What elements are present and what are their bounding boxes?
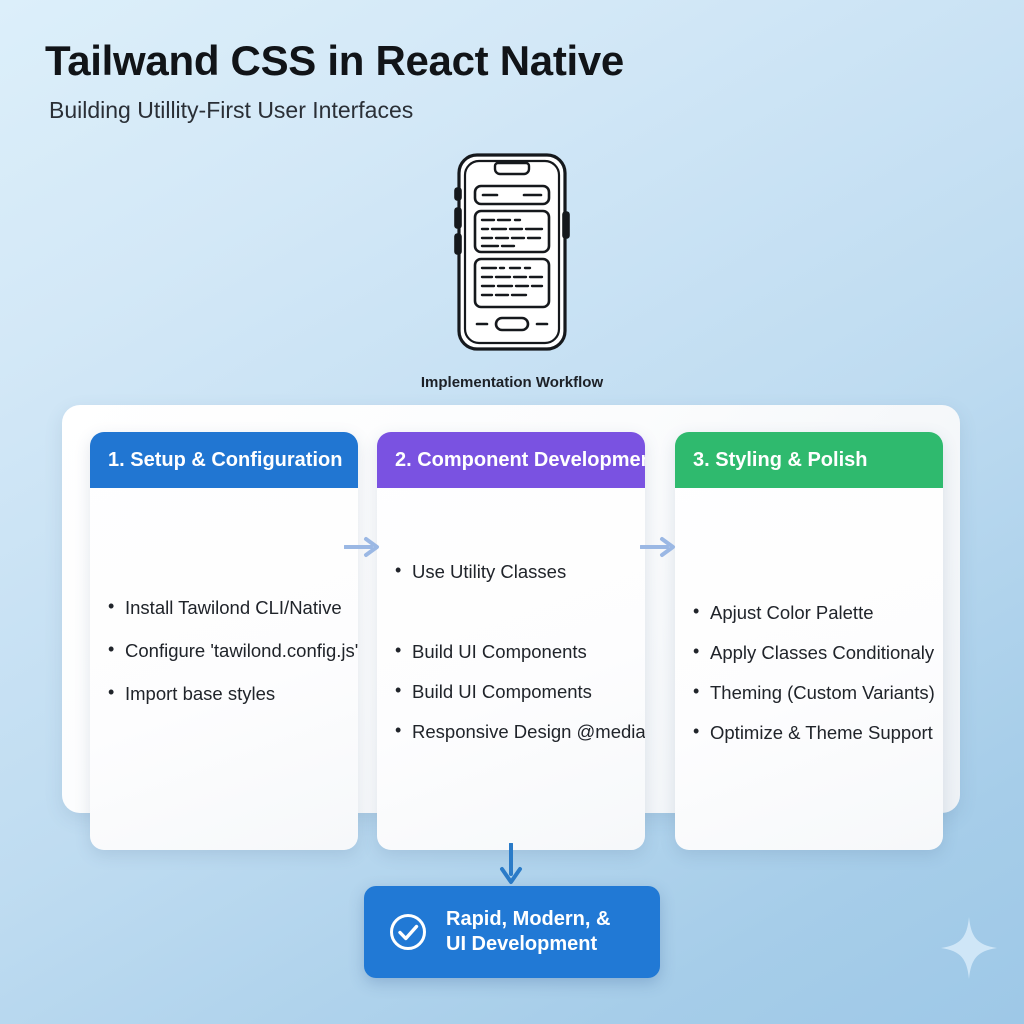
list-item: Configure 'tawilond.config.js' [108, 639, 344, 662]
list-item: Apjust Color Palette [693, 601, 929, 624]
arrow-right-icon [640, 534, 676, 560]
step-card-styling-polish[interactable]: 3. Styling & Polish Apjust Color Palette… [675, 432, 943, 850]
list-item: Optimize & Theme Support [693, 721, 929, 744]
list-item: Apply Classes Conditionaly [693, 641, 929, 664]
workflow-caption: Implementation Workflow [0, 374, 1024, 391]
cta-text: Rapid, Modern, & UI Development [446, 907, 610, 957]
page-subtitle: Building Utillity-First User Interfaces [49, 98, 745, 123]
list-item: Build UI Components [395, 640, 631, 663]
cta-line-2: UI Development [446, 932, 610, 957]
list-item: Install Tawilond CLI/Native [108, 596, 344, 619]
page-header: Tailwand CSS in React Native Building Ut… [45, 38, 745, 123]
cta-banner[interactable]: Rapid, Modern, & UI Development [364, 886, 660, 978]
arrow-down-icon [496, 843, 526, 885]
step-header-component-development: 2. Component Development [377, 432, 645, 488]
step-header-setup: 1. Setup & Configuration [90, 432, 358, 488]
list-item: Build UI Compoments [395, 680, 631, 703]
list-item: Responsive Design @media) [395, 720, 631, 743]
cta-line-1: Rapid, Modern, & [446, 907, 610, 932]
list-item: Import base styles [108, 682, 344, 705]
page-title: Tailwand CSS in React Native [45, 38, 745, 84]
step-bullets-setup: Install Tawilond CLI/Native Configure 't… [90, 596, 358, 705]
step-header-styling-polish: 3. Styling & Polish [675, 432, 943, 488]
sparkle-icon [941, 917, 997, 979]
list-item: Use Utility Classes [395, 560, 631, 583]
smartphone-icon [452, 152, 572, 352]
check-circle-icon [388, 912, 428, 952]
step-bullets-styling-polish: Apjust Color Palette Apply Classes Condi… [675, 601, 943, 745]
step-bullets-component-development: Use Utility Classes Build UI Components … [377, 560, 645, 744]
step-card-component-development[interactable]: 2. Component Development Use Utility Cla… [377, 432, 645, 850]
step-card-setup[interactable]: 1. Setup & Configuration Install Tawilon… [90, 432, 358, 850]
arrow-right-icon [344, 534, 380, 560]
list-item: Theming (Custom Variants) [693, 681, 929, 704]
